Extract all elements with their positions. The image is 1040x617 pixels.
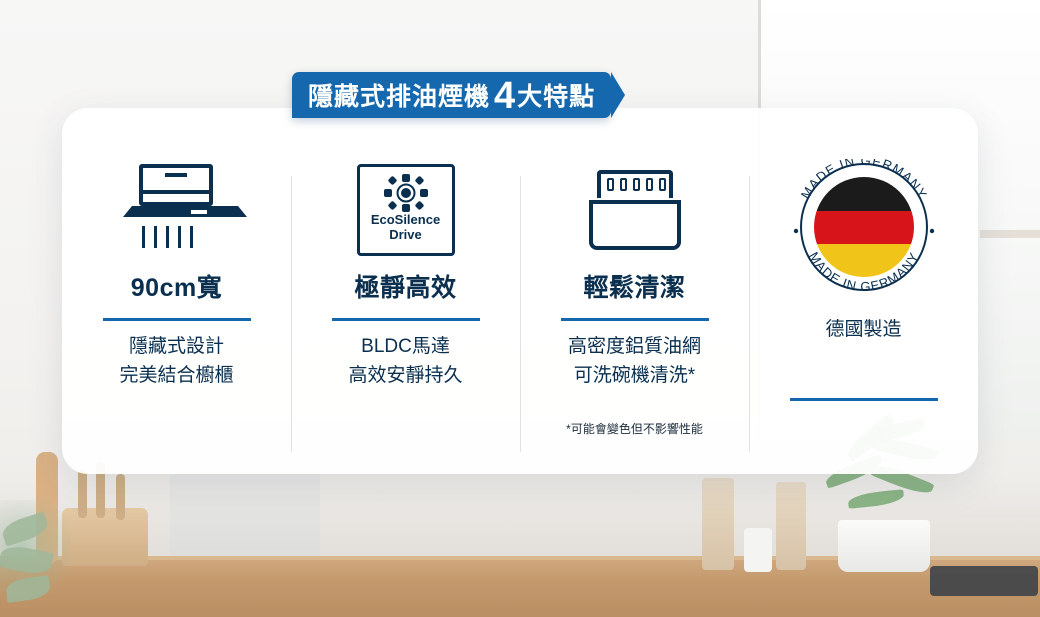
storage-jar <box>702 478 734 570</box>
banner-suffix: 大特點 <box>517 77 595 113</box>
feature-title: 輕鬆清潔 <box>583 268 685 304</box>
utensil <box>78 470 87 518</box>
feature-item-width: 90cm寬 隱藏式設計 完美結合櫥櫃 <box>62 140 291 460</box>
dishwasher-icon <box>583 154 687 266</box>
feature-rule <box>103 318 251 321</box>
banner-number: 4 <box>494 77 515 115</box>
wall-shelf <box>980 230 1040 238</box>
storage-jar <box>776 482 806 570</box>
fan-glyph <box>383 173 429 213</box>
feature-description: BLDC馬達 高效安靜持久 <box>348 333 462 390</box>
banner-heading: 隱藏式排油煙機 4 大特點 <box>292 72 611 118</box>
plant-pot <box>838 520 930 572</box>
feature-description: 隱藏式設計 完美結合櫥櫃 <box>119 333 233 390</box>
range-hood-icon <box>117 154 237 266</box>
feature-footnote: *可能會變色但不影響性能 <box>566 420 703 437</box>
banner-prefix: 隱藏式排油煙機 <box>308 77 490 113</box>
feature-rule <box>790 398 938 401</box>
ecosilence-drive-icon: EcoSilence Drive <box>357 154 455 266</box>
feature-rule <box>332 318 480 321</box>
feature-item-quiet: EcoSilence Drive 極靜高效 BLDC馬達 高效安靜持久 <box>291 140 520 460</box>
feature-rule <box>561 318 709 321</box>
product-feature-banner: 隱藏式排油煙機 4 大特點 90cm寬 隱藏式設計 完美結合櫥櫃 <box>0 0 1040 617</box>
feature-title: 極靜高效 <box>354 268 456 304</box>
foliage-left <box>0 500 70 617</box>
ecosilence-label-line1: EcoSilence <box>371 213 440 228</box>
utensil <box>116 474 125 520</box>
feature-list: 90cm寬 隱藏式設計 完美結合櫥櫃 <box>62 140 978 460</box>
counter-tray <box>930 566 1038 596</box>
storage-jar <box>744 528 772 572</box>
made-in-germany-seal-icon: MADE IN GERMANY MADE IN GERMANY <box>788 154 940 284</box>
feature-description: 高密度鋁質油網 可洗碗機清洗* <box>568 333 701 390</box>
feature-title: 90cm寬 <box>131 268 222 304</box>
ecosilence-label-line2: Drive <box>389 228 422 243</box>
feature-item-origin: MADE IN GERMANY MADE IN GERMANY <box>749 140 978 460</box>
feature-description: 德國製造 <box>825 316 901 345</box>
utensil-crock <box>62 508 148 566</box>
feature-item-cleaning: 輕鬆清潔 高密度鋁質油網 可洗碗機清洗* *可能會變色但不影響性能 <box>520 140 749 460</box>
background-appliance <box>170 470 320 565</box>
